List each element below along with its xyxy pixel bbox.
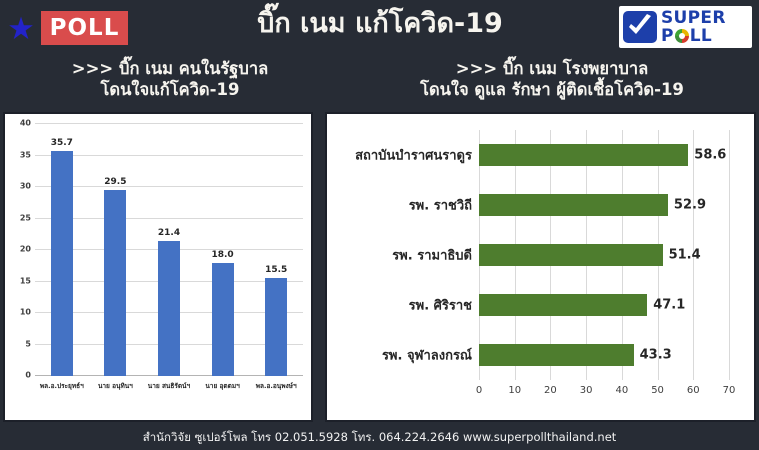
bar-row: รพ. จุฬาลงกรณ์43.3 [479, 330, 729, 380]
x-axis-category-label: นาย อนุทินฯ [98, 381, 133, 391]
horizontal-bar [479, 294, 647, 316]
horizontal-bar [479, 344, 634, 366]
x-axis-tick-label: 40 [615, 385, 628, 396]
logo-line-poll: P LL [661, 28, 726, 45]
horizontal-bar [479, 144, 688, 166]
subtitle-left-line2: โดนใจแก้โควิด-19 [0, 79, 340, 100]
horizontal-bar [479, 194, 668, 216]
y-axis-tick-label: 5 [25, 339, 31, 348]
y-axis-tick-label: 30 [20, 182, 31, 191]
superpoll-logo: SUPER P LL [619, 6, 752, 48]
bar-value-label: 52.9 [674, 198, 706, 213]
column-bar [265, 278, 287, 376]
logo-line-super: SUPER [661, 10, 726, 27]
column-bar [51, 151, 73, 376]
bar-value-label: 51.4 [669, 248, 701, 263]
chart-panel-government: 0510152025303540 35.7พล.อ.ประยุทธ์ฯ29.5น… [3, 112, 313, 422]
column-value-label: 29.5 [104, 177, 126, 187]
y-axis-tick-label: 20 [20, 245, 31, 254]
x-axis-tick-label: 30 [580, 385, 593, 396]
x-axis-tick-label: 10 [508, 385, 521, 396]
page-title: บิ๊ก เนม แก้โควิด-19 [170, 4, 590, 44]
gridline-vertical: 70 [729, 130, 730, 380]
y-axis-tick-label: 40 [20, 119, 31, 128]
column-group: 21.4นาย สนธิรัตน์ฯ [142, 124, 196, 376]
column-group: 29.5นาย อนุทินฯ [89, 124, 143, 376]
column-bar [212, 263, 234, 376]
superpoll-wordmark: SUPER P LL [661, 10, 726, 45]
x-axis-category-label: นาย สนธิรัตน์ฯ [148, 381, 190, 391]
y-axis-tick-label: 35 [20, 150, 31, 159]
bar-chart-plot-area: 010203040506070 สถาบันบำราศนราดูร58.6รพ.… [479, 130, 729, 380]
y-axis-category-label: รพ. จุฬาลงกรณ์ [382, 345, 472, 366]
subtitle-left-line1: >>> บิ๊ก เนม คนในรัฐบาล [0, 58, 340, 79]
x-axis-category-label: พล.อ.อนุพงษ์ฯ [256, 381, 297, 391]
column-group: 15.5พล.อ.อนุพงษ์ฯ [249, 124, 303, 376]
footer-contact: สำนักวิจัย ซูเปอร์โพล โทร 02.051.5928 โท… [0, 424, 759, 450]
y-axis-category-label: สถาบันบำราศนราดูร [355, 145, 472, 166]
column-bar [158, 241, 180, 376]
bar-value-label: 47.1 [653, 298, 685, 313]
y-axis-category-label: รพ. ราชวิถี [409, 195, 472, 216]
y-axis-tick-label: 15 [20, 276, 31, 285]
column-value-label: 15.5 [265, 265, 287, 275]
column-bar [104, 190, 126, 376]
x-axis-tick-label: 20 [544, 385, 557, 396]
bar-row: รพ. ราชวิถี52.9 [479, 180, 729, 230]
y-axis-tick-label: 10 [20, 308, 31, 317]
x-axis-tick-label: 60 [687, 385, 700, 396]
x-axis-tick-label: 70 [723, 385, 736, 396]
bar-row: สถาบันบำราศนราดูร58.6 [479, 130, 729, 180]
x-axis-category-label: นาย อุตตมฯ [205, 381, 239, 391]
star-icon: ★ [6, 14, 36, 44]
column-group: 35.7พล.อ.ประยุทธ์ฯ [35, 124, 89, 376]
subtitle-left: >>> บิ๊ก เนม คนในรัฐบาล โดนใจแก้โควิด-19 [0, 58, 340, 100]
subtitle-right-line1: >>> บิ๊ก เนม โรงพยาบาล [345, 58, 759, 79]
x-axis-tick-label: 50 [651, 385, 664, 396]
chart-panel-hospitals: 010203040506070 สถาบันบำราศนราดูร58.6รพ.… [325, 112, 756, 422]
bar-row: รพ. ศิริราช47.1 [479, 280, 729, 330]
column-group: 18.0นาย อุตตมฯ [196, 124, 250, 376]
x-axis-tick-label: 0 [476, 385, 482, 396]
check-icon [623, 11, 657, 43]
y-axis-category-label: รพ. ศิริราช [409, 295, 472, 316]
poll-badge: POLL [41, 11, 128, 45]
x-axis-category-label: พล.อ.ประยุทธ์ฯ [40, 381, 84, 391]
subtitle-right-line2: โดนใจ ดูแล รักษา ผู้ติดเชื้อโควิด-19 [345, 79, 759, 100]
subtitle-right: >>> บิ๊ก เนม โรงพยาบาล โดนใจ ดูแล รักษา … [345, 58, 759, 100]
column-value-label: 18.0 [211, 250, 233, 260]
bar-value-label: 58.6 [694, 148, 726, 163]
y-axis-category-label: รพ. รามาธิบดี [392, 245, 472, 266]
y-axis-tick-label: 0 [25, 371, 31, 380]
logo-p-letter: P [661, 28, 674, 45]
logo-ll-letters: LL [690, 28, 712, 45]
y-axis-tick-label: 25 [20, 213, 31, 222]
column-chart-plot-area: 0510152025303540 35.7พล.อ.ประยุทธ์ฯ29.5น… [35, 124, 303, 376]
pie-chart-o-icon [675, 29, 689, 43]
horizontal-bar [479, 244, 663, 266]
column-value-label: 35.7 [51, 138, 73, 148]
bar-row: รพ. รามาธิบดี51.4 [479, 230, 729, 280]
header-bar: ★ POLL บิ๊ก เนม แก้โควิด-19 SUPER P LL [0, 0, 759, 55]
column-value-label: 21.4 [158, 228, 180, 238]
bar-value-label: 43.3 [640, 348, 672, 363]
